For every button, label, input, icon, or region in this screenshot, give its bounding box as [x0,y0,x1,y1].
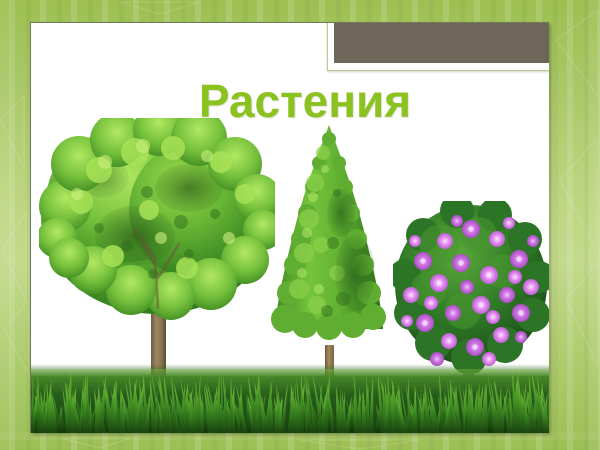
flowering-shrub-foliage [393,201,549,373]
grass-strip [31,361,549,433]
slide: Растения Дерево лиственное Дерево хвойно… [0,0,600,450]
grey-block-fill [334,22,549,63]
grass-blades [31,361,549,433]
conifer-tree [271,123,387,393]
content-panel: Растения [30,22,549,433]
deciduous-tree [39,118,275,393]
conifer-tree-foliage [271,123,387,355]
grey-decorative-block [327,22,549,71]
deciduous-tree-canopy [39,118,275,333]
page-title: Растения [31,78,549,124]
